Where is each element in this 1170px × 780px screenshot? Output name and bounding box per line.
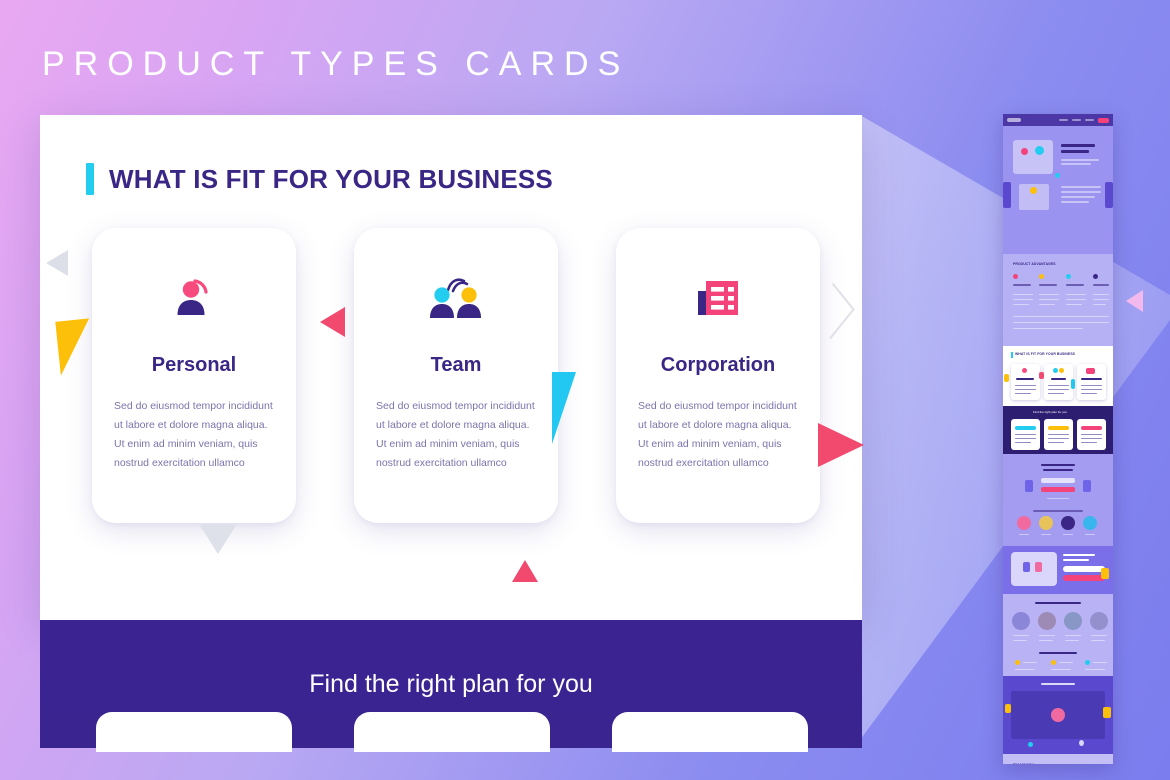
thumb-video-section: [1003, 676, 1113, 754]
thumb-plans-section: Find the right plan for you: [1003, 406, 1113, 454]
section-title: WHAT IS FIT FOR YOUR BUSINESS: [109, 164, 553, 195]
screenshot-stage: PRODUCT TYPES CARDS WHAT IS FIT FOR YOUR…: [0, 0, 1170, 780]
plan-stub[interactable]: [96, 712, 292, 752]
thumb-testimonials-section: [1003, 594, 1113, 676]
thumb-cta-section: [1003, 546, 1113, 594]
accent-bar-icon: [86, 163, 94, 195]
pink-triangle-middle-decoration: [320, 307, 345, 337]
thumb-team-section: TEAMWORK: [1003, 754, 1113, 764]
thumb-workspace-section: [1003, 454, 1113, 546]
section-heading: WHAT IS FIT FOR YOUR BUSINESS: [86, 163, 553, 195]
plan-card-stubs: [40, 712, 862, 748]
card-body-text: Sed do eiusmod tempor incididunt ut labo…: [376, 397, 536, 473]
cyan-triangle-decoration: [552, 372, 576, 444]
thumb-plan-label: Find the right plan for you: [1033, 410, 1067, 414]
grey-triangle-left-decoration: [46, 250, 68, 276]
product-cards-row: Personal Sed do eiusmod tempor incididun…: [92, 228, 820, 523]
yellow-triangle-decoration: [55, 318, 94, 375]
pink-triangle-right-decoration: [818, 423, 864, 467]
pink-triangle-up-decoration: [512, 560, 538, 582]
grey-triangle-down-decoration: [199, 524, 237, 554]
cta-title: Find the right plan for you: [40, 670, 862, 699]
product-card-corporation[interactable]: Corporation Sed do eiusmod tempor incidi…: [616, 228, 820, 523]
product-card-personal[interactable]: Personal Sed do eiusmod tempor incididun…: [92, 228, 296, 523]
thumbnail-pointer-arrow-icon: [1126, 290, 1143, 312]
card-body-text: Sed do eiusmod tempor incididunt ut labo…: [114, 397, 274, 473]
product-card-team[interactable]: Team Sed do eiusmod tempor incididunt ut…: [354, 228, 558, 523]
two-people-icon: [425, 270, 487, 326]
thumb-highlighted-cards-section: WHAT IS FIT FOR YOUR BUSINESS: [1003, 346, 1113, 406]
thumb-hero-section: [1003, 126, 1113, 254]
single-person-icon: [171, 270, 217, 326]
card-title: Corporation: [661, 354, 775, 377]
office-building-icon: [692, 270, 744, 326]
thumb-navbar: [1003, 114, 1113, 126]
page-preview-thumbnail[interactable]: PRODUCT ADVANTAGES: [1003, 114, 1113, 764]
thumb-advantages-section: PRODUCT ADVANTAGES: [1003, 254, 1113, 346]
page-title: PRODUCT TYPES CARDS: [42, 45, 629, 84]
thumb-preview-label: WHAT IS FIT FOR YOUR BUSINESS: [1015, 352, 1075, 356]
card-body-text: Sed do eiusmod tempor incididunt ut labo…: [638, 397, 798, 473]
plan-stub[interactable]: [612, 712, 808, 752]
card-title: Personal: [152, 354, 236, 377]
plan-stub[interactable]: [354, 712, 550, 752]
main-preview-panel: WHAT IS FIT FOR YOUR BUSINESS Personal S…: [40, 115, 862, 620]
card-title: Team: [431, 354, 482, 377]
